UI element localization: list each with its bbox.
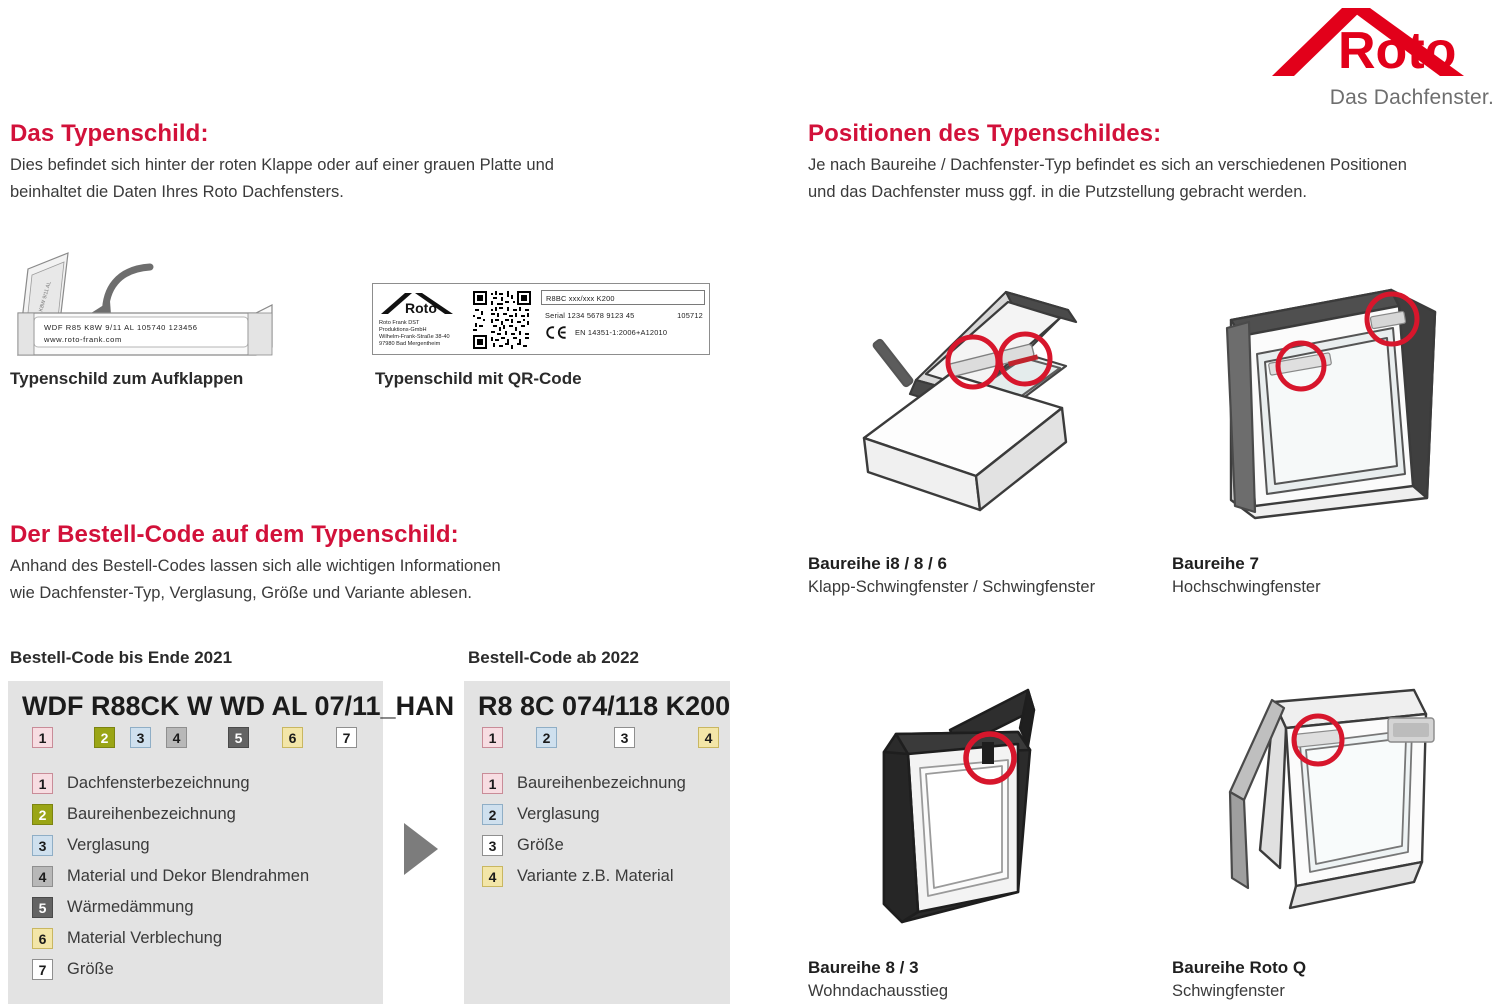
qr-code-icon	[473, 291, 531, 349]
window-title-br7: Baureihe 7	[1172, 554, 1321, 574]
code-new-legend: 1Baureihenbezeichnung2Verglasung3Größe4V…	[482, 773, 686, 897]
code-new-title: Bestell-Code ab 2022	[468, 648, 639, 668]
infographic-page: Roto Das Dachfenster. Das Typenschild: D…	[0, 0, 1500, 1004]
intro-paragraph-line1: Dies befindet sich hinter der roten Klap…	[10, 152, 650, 179]
window-photo-i8	[830, 262, 1130, 542]
code-new-legend-row: 3Größe	[482, 835, 686, 856]
positionen-paragraph: Je nach Baureihe / Dachfenster-Typ befin…	[808, 152, 1498, 206]
window-title-br83: Baureihe 8 / 3	[808, 958, 948, 978]
window-caption-br7: Baureihe 7 Hochschwingfenster	[1172, 554, 1321, 597]
code-old-legend-label: Baureihenbezeichnung	[67, 805, 236, 824]
code-old-string: WDF R88CK W WD AL 07/11_HAN	[22, 691, 454, 722]
roof-window-illustration-i8	[830, 262, 1130, 542]
code-old-legend-badge-6: 6	[32, 928, 53, 949]
code-old-legend-row: 5Wärmedämmung	[32, 897, 309, 918]
qr-nameplate: Roto Roto Frank DST Produktions-GmbH Wil…	[372, 283, 710, 355]
intro-paragraph-line2: beinhaltet die Daten Ihres Roto Dachfens…	[10, 179, 650, 206]
code-old-legend-row: 7Größe	[32, 959, 309, 980]
code-new-legend-badge-4: 4	[482, 866, 503, 887]
code-old-legend-label: Verglasung	[67, 836, 150, 855]
code-old-legend-label: Dachfensterbezeichnung	[67, 774, 250, 793]
code-old-legend-row: 6Material Verblechung	[32, 928, 309, 949]
window-photo-rotoq	[1200, 672, 1490, 930]
fold-plate-code: WDF R85 K8W 9/11 AL 105740 123456	[44, 323, 198, 332]
company-line-2: Produktions-GmbH	[379, 327, 471, 334]
code-old-legend-badge-1: 1	[32, 773, 53, 794]
code-new-legend-row: 4Variante z.B. Material	[482, 866, 686, 887]
code-old-badge-7: 7	[336, 727, 357, 748]
window-title-rotoq: Baureihe Roto Q	[1172, 958, 1306, 978]
heading-das-typenschild: Das Typenschild:	[10, 120, 209, 148]
qr-plate-company-address: Roto Frank DST Produktions-GmbH Wilhelm-…	[379, 320, 471, 348]
svg-text:Roto: Roto	[405, 300, 437, 316]
code-new-legend-label: Verglasung	[517, 805, 600, 824]
positionen-paragraph-line2: und das Dachfenster muss ggf. in die Put…	[808, 179, 1498, 206]
serial-row: Serial 1234 5678 9123 45 105712	[541, 311, 705, 320]
positionen-paragraph-line1: Je nach Baureihe / Dachfenster-Typ befin…	[808, 152, 1498, 179]
code-old-legend-label: Material Verblechung	[67, 929, 222, 948]
code-new-legend-badge-2: 2	[482, 804, 503, 825]
code-new-panel: R8 8C 074/118 K200 1234 1Baureihenbezeic…	[464, 681, 730, 1004]
qr-plate-caption: Typenschild mit QR-Code	[375, 369, 582, 389]
code-new-legend-row: 2Verglasung	[482, 804, 686, 825]
fold-open-nameplate-illustration: WDF R85 K8W 9/11 AL WDF R85 K8W 9/11 AL …	[10, 243, 280, 363]
window-subtitle-rotoq: Schwingfenster	[1172, 982, 1306, 1001]
bestellcode-paragraph-line1: Anhand des Bestell-Codes lassen sich all…	[10, 553, 650, 580]
code-new-legend-label: Größe	[517, 836, 564, 855]
window-caption-rotoq: Baureihe Roto Q Schwingfenster	[1172, 958, 1306, 1001]
heading-bestell-code: Der Bestell-Code auf dem Typenschild:	[10, 521, 459, 549]
window-photo-br83	[822, 672, 1102, 930]
code-old-legend-badge-3: 3	[32, 835, 53, 856]
ce-row: EN 14351-1:2006+A12010	[541, 326, 705, 339]
window-subtitle-i8: Klapp-Schwingfenster / Schwingfenster	[808, 578, 1095, 597]
bestellcode-paragraph: Anhand des Bestell-Codes lassen sich all…	[10, 553, 650, 607]
code-old-legend-badge-5: 5	[32, 897, 53, 918]
code-new-legend-label: Baureihenbezeichnung	[517, 774, 686, 793]
company-line-4: 97980 Bad Mergentheim	[379, 341, 471, 348]
roto-logo: Roto Das Dachfenster.	[1268, 4, 1494, 114]
code-old-legend: 1Dachfensterbezeichnung2Baureihenbezeich…	[32, 773, 309, 990]
code-new-badge-1: 1	[482, 727, 503, 748]
intro-paragraph: Dies befindet sich hinter der roten Klap…	[10, 152, 650, 206]
code-new-legend-badge-3: 3	[482, 835, 503, 856]
code-old-badge-3: 3	[130, 727, 151, 748]
code-old-legend-row: 3Verglasung	[32, 835, 309, 856]
code-old-badge-4: 4	[166, 727, 187, 748]
code-old-legend-badge-4: 4	[32, 866, 53, 887]
code-new-legend-row: 1Baureihenbezeichnung	[482, 773, 686, 794]
window-subtitle-br83: Wohndachausstieg	[808, 982, 948, 1001]
code-new-string: R8 8C 074/118 K200	[478, 691, 730, 722]
fold-plate-drawing-icon: WDF R85 K8W 9/11 AL WDF R85 K8W 9/11 AL …	[10, 243, 280, 363]
code-new-badge-4: 4	[698, 727, 719, 748]
transition-arrow-icon	[404, 823, 438, 875]
code-old-badge-6: 6	[282, 727, 303, 748]
code-old-badge-1: 1	[32, 727, 53, 748]
window-photo-br7	[1195, 262, 1485, 542]
code-old-legend-label: Größe	[67, 960, 114, 979]
code-old-legend-row: 4Material und Dekor Blendrahmen	[32, 866, 309, 887]
window-subtitle-br7: Hochschwingfenster	[1172, 578, 1321, 597]
fold-plate-url: www.roto-frank.com	[43, 335, 122, 344]
ce-mark-icon	[544, 326, 568, 339]
type-designation-field: R8BC xxx/xxx K200	[541, 290, 705, 305]
code-old-panel: WDF R88CK W WD AL 07/11_HAN 1234567 1Dac…	[8, 681, 383, 1004]
logo-tagline: Das Dachfenster.	[1268, 86, 1494, 110]
code-new-legend-label: Variante z.B. Material	[517, 867, 674, 886]
code-old-badge-5: 5	[228, 727, 249, 748]
serial-number: 105712	[677, 311, 703, 320]
norm-text: EN 14351-1:2006+A12010	[575, 328, 667, 337]
bestellcode-paragraph-line2: wie Dachfenster-Typ, Verglasung, Größe u…	[10, 580, 650, 607]
window-title-i8: Baureihe i8 / 8 / 6	[808, 554, 1095, 574]
code-old-badge-2: 2	[94, 727, 115, 748]
roto-roof-logo-icon: Roto	[1268, 4, 1494, 82]
code-old-legend-label: Wärmedämmung	[67, 898, 194, 917]
code-old-legend-row: 1Dachfensterbezeichnung	[32, 773, 309, 794]
company-line-1: Roto Frank DST	[379, 320, 471, 327]
code-new-badge-2: 2	[536, 727, 557, 748]
company-line-3: Wilhelm-Frank-Straße 38-40	[379, 334, 471, 341]
serial-label: Serial 1234 5678 9123 45	[545, 311, 634, 320]
qr-plate-roto-logo-icon: Roto	[379, 289, 461, 319]
svg-text:Roto: Roto	[1338, 22, 1456, 80]
code-old-title: Bestell-Code bis Ende 2021	[10, 648, 232, 668]
qr-plate-data-fields: R8BC xxx/xxx K200 Serial 1234 5678 9123 …	[541, 290, 705, 339]
window-caption-i8: Baureihe i8 / 8 / 6 Klapp-Schwingfenster…	[808, 554, 1095, 597]
code-new-legend-badge-1: 1	[482, 773, 503, 794]
window-caption-br83: Baureihe 8 / 3 Wohndachausstieg	[808, 958, 948, 1001]
code-old-legend-label: Material und Dekor Blendrahmen	[67, 867, 309, 886]
fold-plate-caption: Typenschild zum Aufklappen	[10, 369, 243, 389]
roof-window-illustration-br83	[822, 672, 1102, 930]
roof-window-illustration-br7	[1195, 262, 1485, 542]
code-old-legend-badge-7: 7	[32, 959, 53, 980]
heading-positionen: Positionen des Typenschildes:	[808, 120, 1161, 148]
roof-window-illustration-rotoq	[1200, 672, 1490, 930]
code-new-badge-3: 3	[614, 727, 635, 748]
code-old-legend-row: 2Baureihenbezeichnung	[32, 804, 309, 825]
code-old-legend-badge-2: 2	[32, 804, 53, 825]
